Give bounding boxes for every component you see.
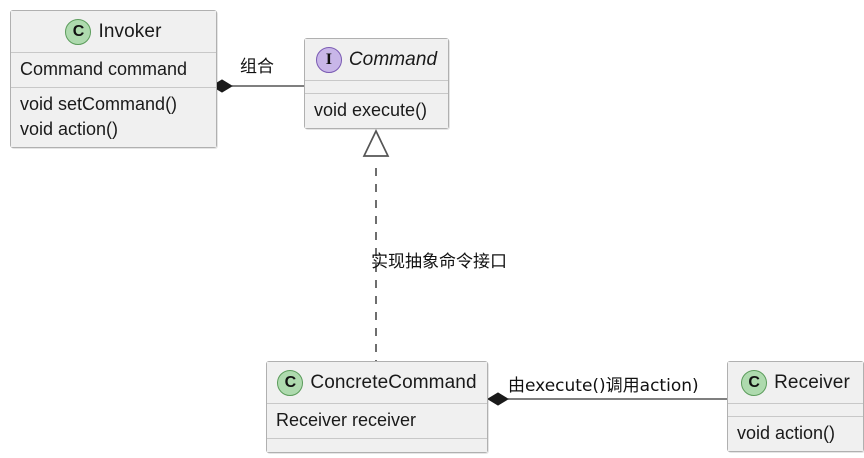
method-row: void execute() [314, 98, 439, 123]
class-methods-concretecommand [267, 439, 487, 452]
class-name-concretecommand: ConcreteCommand [310, 372, 476, 394]
class-box-concretecommand[interactable]: C ConcreteCommand Receiver receiver [266, 361, 488, 453]
edge-invoker-command [212, 80, 304, 92]
class-methods-invoker: void setCommand() void action() [11, 88, 216, 147]
class-fields-command [305, 81, 448, 94]
interface-stereotype-icon: I [316, 47, 342, 73]
class-box-receiver[interactable]: C Receiver void action() [727, 361, 864, 452]
edge-label-composition-concretecommand-receiver: 由execute()调用action) [508, 371, 699, 396]
class-stereotype-icon: C [277, 370, 303, 396]
realization-hollow-triangle [364, 131, 388, 156]
method-row: void action() [20, 117, 207, 142]
class-methods-command: void execute() [305, 94, 448, 128]
class-box-command[interactable]: I Command void execute() [304, 38, 449, 129]
class-stereotype-icon: C [741, 370, 767, 396]
class-title-invoker: C Invoker [11, 11, 216, 53]
class-name-invoker: Invoker [98, 21, 161, 43]
class-fields-concretecommand: Receiver receiver [267, 404, 487, 439]
class-stereotype-icon: C [65, 19, 91, 45]
class-box-invoker[interactable]: C Invoker Command command void setComman… [10, 10, 217, 148]
method-row: void setCommand() [20, 92, 207, 117]
class-title-receiver: C Receiver [728, 362, 863, 404]
class-fields-invoker: Command command [11, 53, 216, 88]
field-row: Receiver receiver [276, 408, 478, 433]
edge-label-realization-concretecommand-command: 实现抽象命令接口 [371, 247, 507, 272]
field-row: Command command [20, 57, 207, 82]
class-title-concretecommand: C ConcreteCommand [267, 362, 487, 404]
edge-label-composition-invoker-command: 组合 [240, 52, 274, 77]
uml-class-diagram-canvas: C Invoker Command command void setComman… [0, 0, 864, 458]
class-name-command: Command [349, 49, 437, 71]
method-row: void action() [737, 421, 854, 446]
composition-diamond-concretecommand [488, 393, 508, 405]
class-title-command: I Command [305, 39, 448, 81]
class-methods-receiver: void action() [728, 417, 863, 451]
class-name-receiver: Receiver [774, 372, 850, 394]
class-fields-receiver [728, 404, 863, 417]
